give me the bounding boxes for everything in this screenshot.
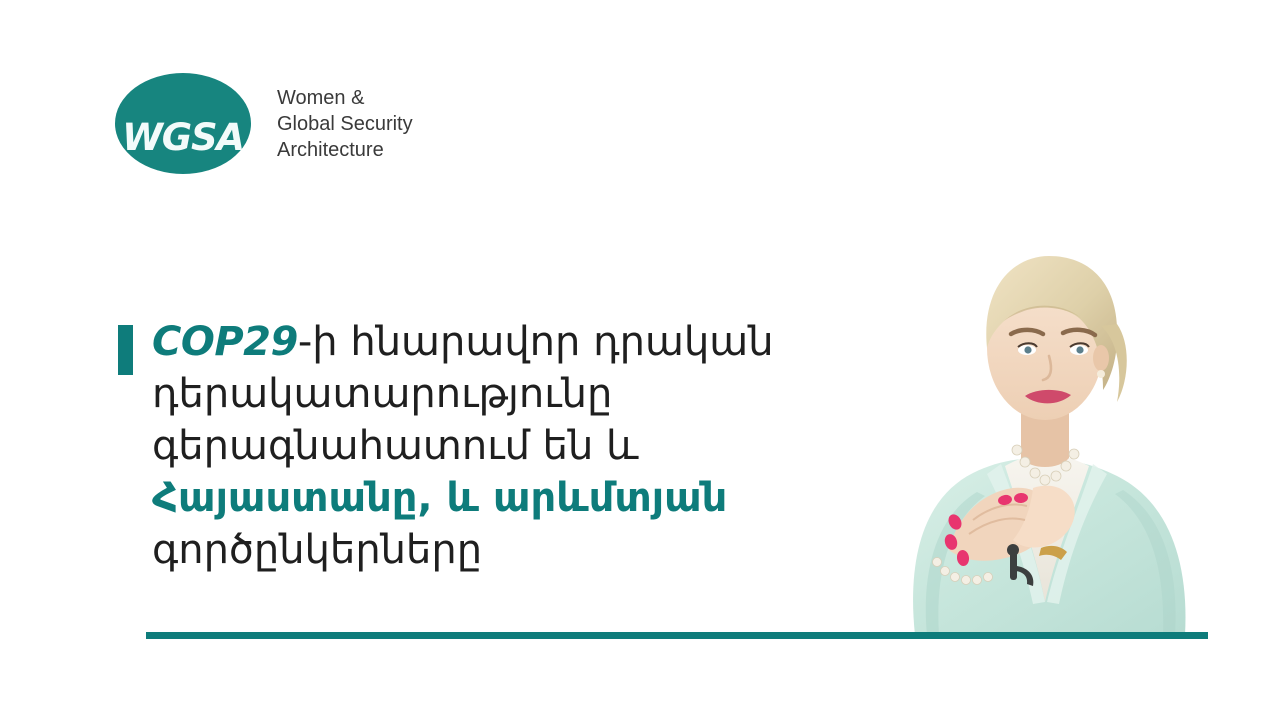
- organization-name: Women & Global Security Architecture: [277, 85, 413, 163]
- presenter-photo: [845, 230, 1245, 635]
- headline-line-3: գերագնահատում են և: [152, 420, 852, 472]
- organization-name-line-3: Architecture: [277, 137, 413, 163]
- organization-name-line-2: Global Security: [277, 111, 413, 137]
- organization-name-line-1: Women &: [277, 85, 413, 111]
- headline-line-4-accent: Հայաստանը, և արևմտյան: [152, 472, 852, 524]
- headline-brand-cop29: COP29: [152, 319, 298, 365]
- wgsa-logo-lockup: WGSA Women & Global Security Architectur…: [115, 73, 535, 178]
- headline-line-1-rest: -ի հնարավոր դրական: [298, 319, 774, 365]
- presentation-slide: WGSA Women & Global Security Architectur…: [0, 0, 1280, 720]
- wgsa-wordmark: WGSA: [111, 119, 255, 156]
- bottom-divider-rule: [146, 632, 1208, 639]
- slide-headline: COP29-ի հնարավոր դրական դերակատարություն…: [152, 316, 852, 576]
- wgsa-logo-mark: WGSA: [115, 73, 251, 174]
- headline-accent-bar: [118, 325, 133, 375]
- headline-line-1: COP29-ի հնարավոր դրական: [152, 316, 852, 368]
- headline-line-2: դերակատարությունը: [152, 368, 852, 420]
- headline-line-5: գործընկերները: [152, 524, 852, 576]
